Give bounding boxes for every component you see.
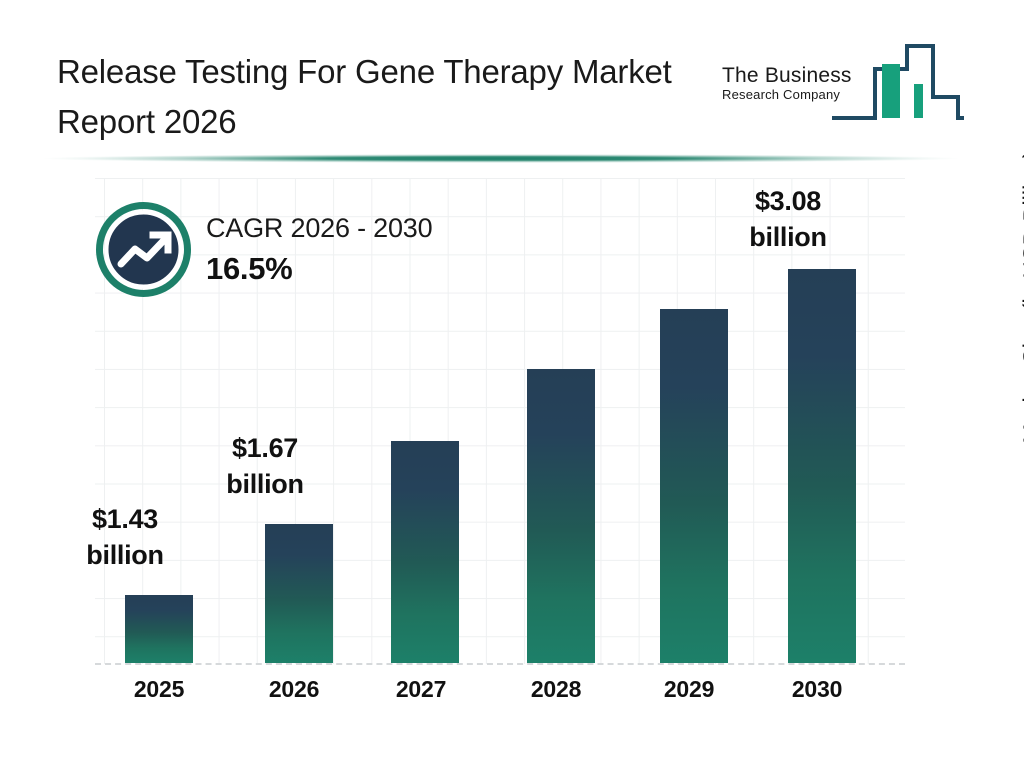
x-axis: 2025 2026 2027 2028 2029 2030 <box>95 676 905 710</box>
header: Release Testing For Gene Therapy Market … <box>0 0 1024 160</box>
x-tick-2029: 2029 <box>629 676 749 703</box>
y-axis-title: Market Size (in USD Billion) <box>1019 117 1024 477</box>
bar-value-label-2030: $3.08 billion <box>723 183 853 255</box>
page-title: Release Testing For Gene Therapy Market … <box>57 47 697 147</box>
bar-value-label-2026: $1.67 billion <box>200 430 330 502</box>
cagr-value: 16.5% <box>206 248 506 290</box>
bar-value-label-2025: $1.43 billion <box>60 501 190 573</box>
x-tick-2026: 2026 <box>234 676 354 703</box>
bar-value-amount-2030: $3.08 <box>723 183 853 219</box>
bar-2025[interactable] <box>125 595 193 663</box>
bar-value-amount-2025: $1.43 <box>60 501 190 537</box>
x-tick-2028: 2028 <box>496 676 616 703</box>
bar-2027[interactable] <box>391 441 459 663</box>
cagr-period-label: CAGR 2026 - 2030 <box>206 208 506 248</box>
bar-2029[interactable] <box>660 309 728 663</box>
header-divider <box>42 154 960 163</box>
bar-value-amount-2026: $1.67 <box>200 430 330 466</box>
bar-value-unit-2026: billion <box>200 466 330 502</box>
company-logo: The Business Research Company <box>722 38 964 128</box>
cagr-badge: CAGR 2026 - 2030 16.5% <box>96 202 516 302</box>
x-tick-2027: 2027 <box>361 676 481 703</box>
cagr-text-group: CAGR 2026 - 2030 16.5% <box>206 208 506 290</box>
trending-up-icon <box>96 202 191 297</box>
bar-value-unit-2030: billion <box>723 219 853 255</box>
x-tick-2030: 2030 <box>757 676 877 703</box>
x-tick-2025: 2025 <box>99 676 219 703</box>
bar-2026[interactable] <box>265 524 333 663</box>
bar-2028[interactable] <box>527 369 595 663</box>
bar-value-unit-2025: billion <box>60 537 190 573</box>
bar-chart-logo-mark <box>830 38 964 126</box>
chart-baseline <box>95 663 905 665</box>
bar-2030[interactable] <box>788 269 856 663</box>
